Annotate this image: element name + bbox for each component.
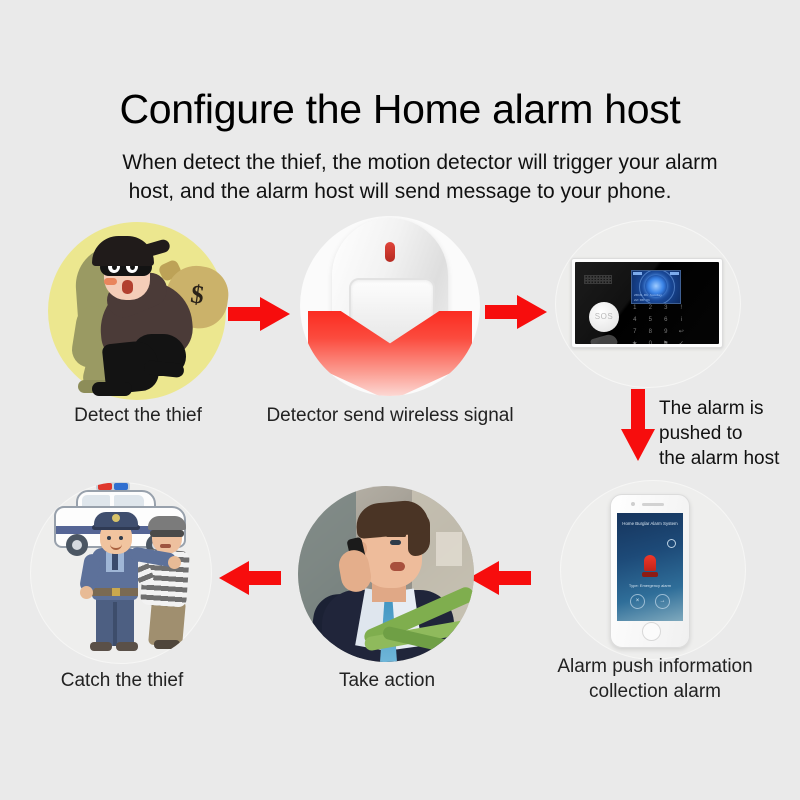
push-note-line-2: pushed to — [659, 421, 800, 446]
key-7[interactable]: 7 — [627, 326, 643, 338]
subtitle-line-1: When detect the thief, the motion detect… — [44, 148, 756, 177]
alarm-host-front-panel: 2019-01 Sunday 22:00:31 SOS 1 2 3 ! 4 5 … — [575, 262, 719, 344]
siren-alarm-icon — [642, 555, 658, 577]
caption-alarm-push: Alarm push information collection alarm — [520, 654, 790, 704]
alert-type-text: Type: Emergency alarm — [617, 583, 683, 589]
police-light-blue — [114, 483, 128, 490]
rfid-card-icon — [590, 333, 618, 344]
key-3[interactable]: 3 — [658, 302, 674, 314]
arrow-left-icon — [469, 561, 531, 595]
arrow-head — [517, 295, 547, 329]
key-confirm-icon[interactable]: ✓ — [674, 338, 690, 344]
officer-hand-right — [168, 556, 181, 569]
caught-thief-mouth — [160, 544, 171, 548]
key-alert-icon[interactable]: ! — [674, 302, 690, 314]
caption-catch-thief: Catch the thief — [22, 668, 222, 693]
caption-alarm-push-line-1: Alarm push information — [520, 654, 790, 679]
key-back-icon[interactable]: ↩ — [674, 326, 690, 338]
arrow-down-icon — [621, 389, 655, 461]
detector-led-icon — [385, 242, 395, 262]
police-disc-background — [30, 482, 212, 664]
front-camera-icon — [631, 502, 635, 506]
siren-lamp — [644, 555, 656, 571]
arrow-right-icon — [228, 297, 290, 331]
arrow-head — [260, 297, 290, 331]
police-car-hubcap-front — [72, 540, 82, 550]
page-title: Configure the Home alarm host — [0, 84, 800, 134]
siren-base — [642, 572, 658, 577]
earpiece-speaker — [642, 503, 664, 506]
officer-shoe-left — [90, 642, 112, 651]
officer-hand-left — [80, 586, 93, 599]
infographic-page: Configure the Home alarm host When detec… — [0, 0, 800, 800]
thief-mouth — [122, 280, 133, 294]
alarm-host-lcd-screen: 2019-01 Sunday 22:00:31 — [631, 270, 681, 304]
background-picture-frame — [436, 532, 462, 566]
thief-illustration: $ — [48, 222, 226, 400]
detector-disc-background — [300, 216, 480, 396]
police-catching-thief-illustration — [30, 482, 212, 664]
lcd-date-text: 2019-01 Sunday — [634, 293, 662, 297]
gear-icon[interactable] — [667, 539, 676, 548]
lcd-signal-icon — [633, 272, 642, 275]
officer-hat-badge-icon — [112, 514, 120, 522]
thief-blush — [104, 278, 117, 285]
arrow-left-icon — [219, 561, 281, 595]
smartphone-body: Home Burglar Alarm System Type: Emergenc… — [610, 494, 690, 648]
officer-eye-right — [119, 536, 123, 540]
decline-call-button[interactable]: × — [630, 594, 645, 609]
key-0[interactable]: 0 — [643, 338, 659, 344]
app-title: Home Burglar Alarm System — [617, 521, 683, 527]
officer-belt-buckle — [112, 588, 120, 596]
man-eye — [390, 540, 401, 545]
subtitle-line-2: host, and the alarm host will send messa… — [44, 177, 756, 206]
smartphone-screen: Home Burglar Alarm System Type: Emergenc… — [617, 513, 683, 621]
alarm-host-bezel: 2019-01 Sunday 22:00:31 SOS 1 2 3 ! 4 5 … — [571, 258, 723, 348]
smartphone-alarm-push-photo: Home Burglar Alarm System Type: Emergenc… — [560, 480, 746, 660]
push-note-line-3: the alarm host — [659, 446, 800, 471]
thief-shoe-front — [92, 382, 132, 396]
arrow-right-icon — [485, 295, 547, 329]
lcd-battery-icon — [670, 272, 679, 275]
home-button[interactable] — [642, 622, 661, 641]
sos-button[interactable]: SOS — [589, 302, 619, 332]
man-mouth — [390, 562, 405, 571]
officer-tie — [112, 552, 118, 570]
caught-thief-shoes — [154, 640, 180, 649]
arrow-head — [219, 561, 249, 595]
caption-alarm-push-line-2: collection alarm — [520, 679, 790, 704]
accept-call-button[interactable]: → — [655, 594, 670, 609]
officer-shoe-right — [116, 642, 138, 651]
push-note-line-1: The alarm is — [659, 396, 800, 421]
man-eyebrow — [386, 534, 406, 537]
caught-thief-cap — [148, 516, 186, 530]
caption-detect-thief: Detect the thief — [28, 403, 248, 428]
officer-eye-left — [107, 536, 111, 540]
officer-leg-divider — [113, 602, 117, 646]
man-on-phone-photo — [298, 486, 474, 662]
key-4[interactable]: 4 — [627, 314, 643, 326]
key-info-icon[interactable]: i — [674, 314, 690, 326]
key-2[interactable]: 2 — [643, 302, 659, 314]
key-arm-home-icon[interactable]: ★ — [627, 338, 643, 344]
caught-thief-eye-mask — [150, 530, 184, 537]
alarm-host-panel-photo: 2019-01 Sunday 22:00:31 SOS 1 2 3 ! 4 5 … — [555, 214, 741, 394]
pir-motion-detector-illustration — [300, 216, 480, 396]
push-note-text: The alarm is pushed to the alarm host — [659, 396, 800, 471]
key-8[interactable]: 8 — [643, 326, 659, 338]
police-light-red — [98, 483, 112, 490]
arrow-head — [621, 429, 655, 461]
key-1[interactable]: 1 — [627, 302, 643, 314]
alarm-host-keypad[interactable]: 1 2 3 ! 4 5 6 i 7 8 9 ↩ ★ 0 ⚑ ✓ — [627, 302, 689, 344]
caption-take-action: Take action — [292, 668, 482, 693]
caption-detector-signal: Detector send wireless signal — [240, 403, 540, 428]
key-arm-away-icon[interactable]: ⚑ — [658, 338, 674, 344]
page-subtitle: When detect the thief, the motion detect… — [44, 148, 756, 206]
speaker-grille-icon — [584, 275, 612, 284]
key-5[interactable]: 5 — [643, 314, 659, 326]
key-6[interactable]: 6 — [658, 314, 674, 326]
man-disc-background — [298, 486, 474, 662]
key-9[interactable]: 9 — [658, 326, 674, 338]
